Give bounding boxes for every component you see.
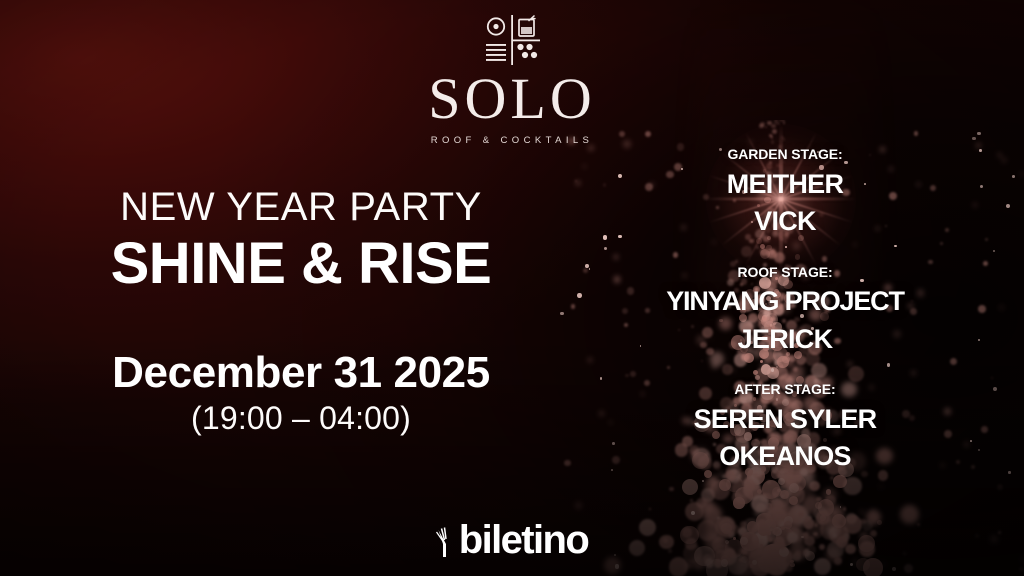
artist-name: MEITHER: [630, 168, 940, 200]
stage-block-roof: ROOF STAGE: YINYANG PROJECT JERICK: [630, 264, 940, 356]
solo-wordmark: SOLO: [428, 70, 595, 128]
event-time: (19:00 – 04:00): [66, 401, 536, 436]
artist-name: OKEANOS: [630, 440, 940, 472]
biletino-swoosh-icon: [436, 527, 456, 557]
stage-label: ROOF STAGE:: [630, 264, 940, 281]
event-details: NEW YEAR PARTY SHINE & RISE December 31 …: [66, 186, 536, 436]
stage-label: GARDEN STAGE:: [630, 146, 940, 163]
artist-name: JERICK: [630, 323, 940, 355]
lineup-list: GARDEN STAGE: MEITHER VICK ROOF STAGE: Y…: [630, 146, 940, 473]
solo-quadrant-cocktail-icon: [483, 14, 541, 66]
solo-logo: SOLO ROOF & COCKTAILS: [0, 14, 1024, 146]
stage-label: AFTER STAGE:: [630, 381, 940, 398]
solo-tagline: ROOF & COCKTAILS: [431, 135, 594, 146]
event-date: December 31 2025: [66, 349, 536, 397]
stage-block-garden: GARDEN STAGE: MEITHER VICK: [630, 146, 940, 238]
biletino-wordmark: biletino: [459, 520, 588, 560]
stage-block-after: AFTER STAGE: SEREN SYLER OKEANOS: [630, 381, 940, 473]
artist-name: YINYANG PROJECT: [630, 285, 940, 317]
event-headline: SHINE & RISE: [66, 233, 536, 294]
biletino-logo: biletino: [0, 520, 1024, 560]
artist-name: SEREN SYLER: [630, 403, 940, 435]
artist-name: VICK: [630, 205, 940, 237]
event-poster: SOLO ROOF & COCKTAILS NEW YEAR PARTY SHI…: [0, 0, 1024, 576]
event-kicker: NEW YEAR PARTY: [66, 186, 536, 229]
